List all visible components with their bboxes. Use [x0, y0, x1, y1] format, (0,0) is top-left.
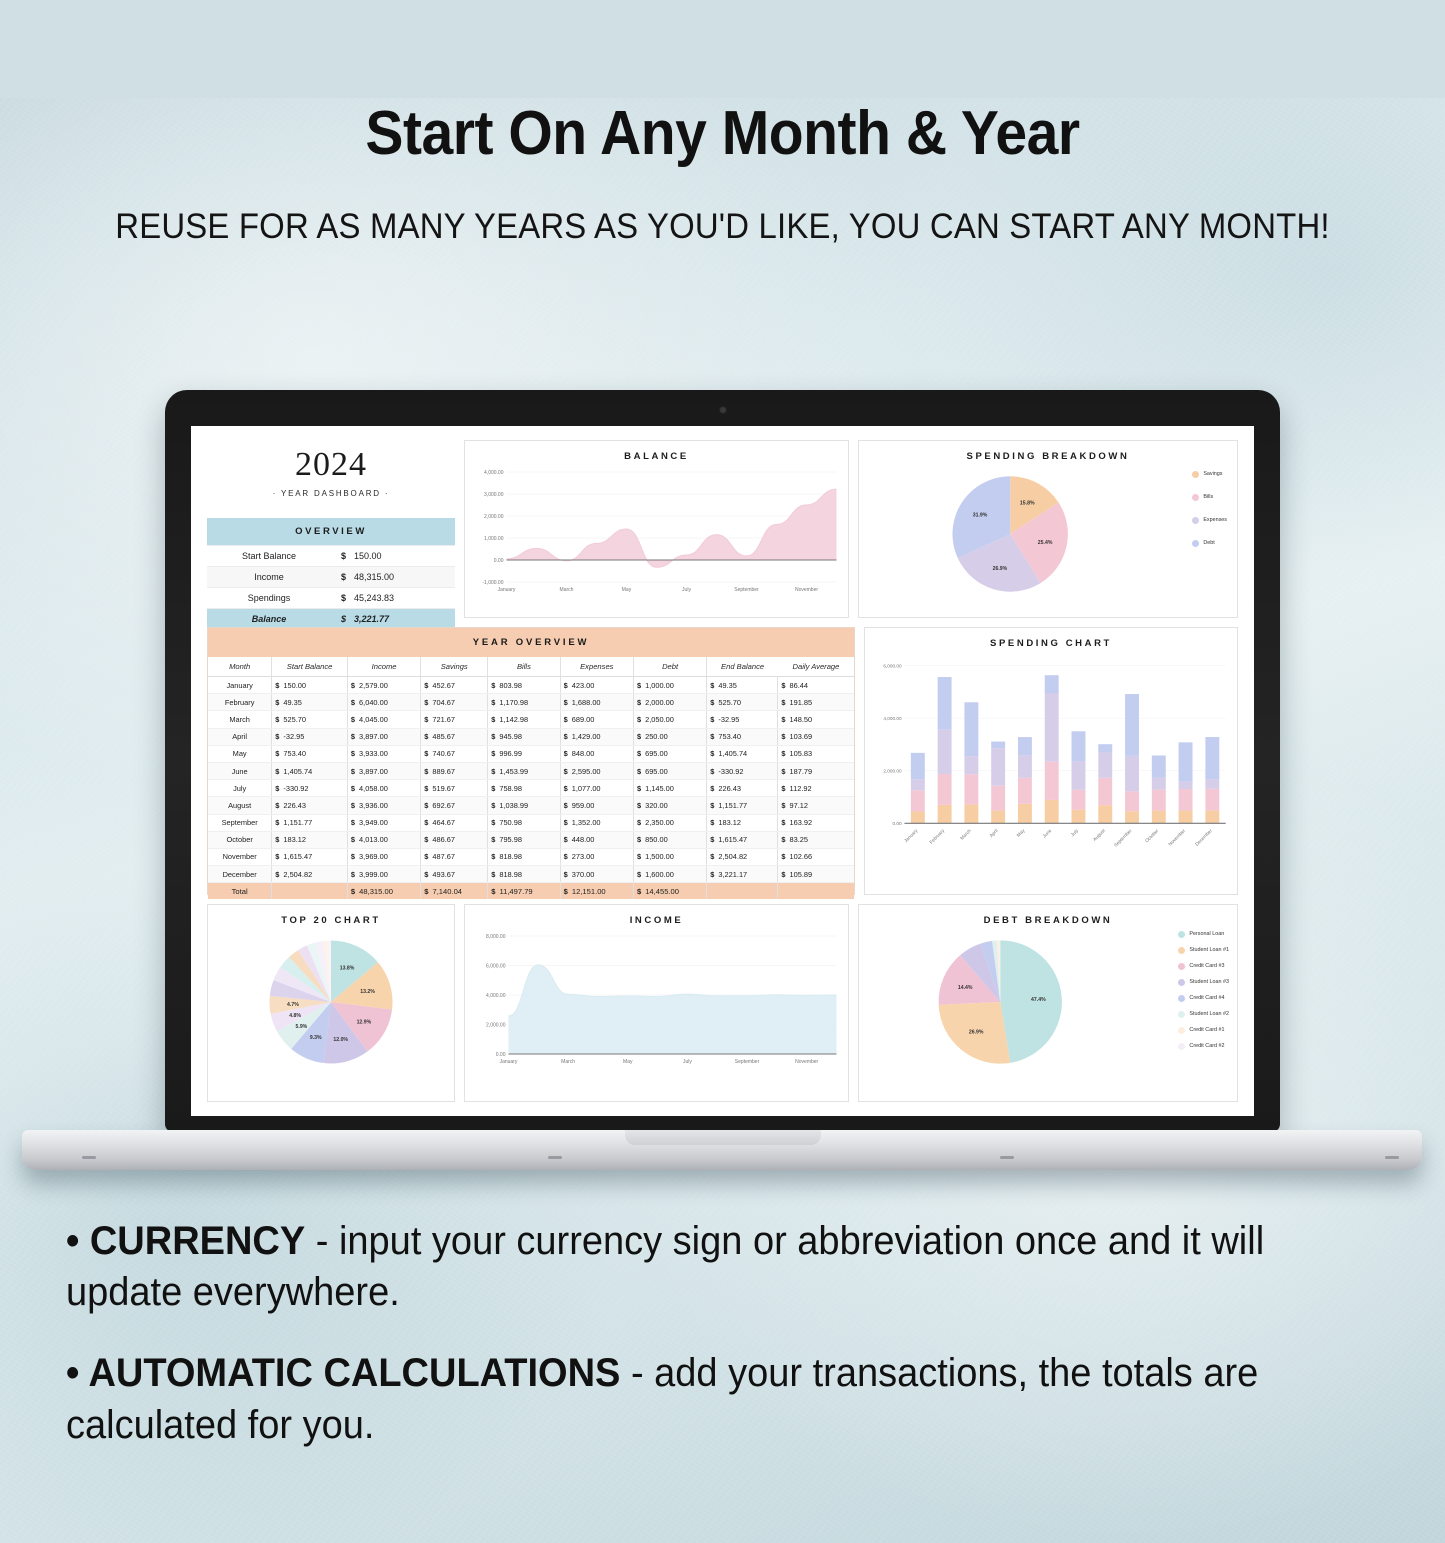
cell-amount: $83.25	[778, 831, 854, 848]
svg-text:October: October	[1144, 828, 1160, 844]
table-row: January$150.00$2,579.00$452.67$803.98$42…	[208, 677, 854, 694]
spending-chart: 6,000.004,000.002,000.000.00JanuaryFebru…	[865, 649, 1237, 885]
bullet-label: • CURRENCY	[66, 1219, 305, 1263]
cell-amount: $753.40	[272, 745, 348, 762]
cell-amount: $2,000.00	[633, 694, 706, 711]
column-header: Savings	[421, 657, 488, 677]
cell-amount: $370.00	[560, 866, 633, 883]
cell-total	[707, 883, 778, 900]
overview-label: Income	[207, 567, 331, 588]
svg-text:4.8%: 4.8%	[289, 1013, 301, 1019]
cell-amount: $464.67	[421, 814, 488, 831]
top20-chart-title: TOP 20 CHART	[208, 905, 454, 926]
column-header: Expenses	[560, 657, 633, 677]
svg-text:9.3%: 9.3%	[310, 1035, 322, 1041]
table-row: June$1,405.74$3,897.00$889.67$1,453.99$2…	[208, 762, 854, 779]
balance-chart-title: BALANCE	[465, 441, 848, 462]
legend-color-swatch	[1178, 947, 1185, 954]
laptop-vent	[1385, 1156, 1399, 1159]
cell-amount: $818.98	[488, 848, 560, 865]
debt-breakdown-legend: Personal LoanStudent Loan #1Credit Card …	[1178, 931, 1229, 1059]
debt-breakdown-title: DEBT BREAKDOWN	[859, 905, 1237, 926]
cell-amount: $740.67	[421, 745, 488, 762]
overview-label: Balance	[207, 609, 331, 630]
cell-amount: $996.99	[488, 745, 560, 762]
cell-amount: $3,897.00	[347, 728, 420, 745]
svg-text:January: January	[500, 1059, 518, 1065]
svg-text:26.9%: 26.9%	[969, 1030, 984, 1036]
svg-text:March: March	[561, 1059, 575, 1065]
table-row: Spendings $45,243.83	[207, 588, 455, 609]
cell-total	[272, 883, 348, 900]
cell-month: September	[208, 814, 272, 831]
cell-amount: $959.00	[560, 797, 633, 814]
cell-amount: $3,949.00	[347, 814, 420, 831]
svg-text:March: March	[959, 828, 972, 841]
cell-amount: $226.43	[707, 780, 778, 797]
svg-text:April: April	[989, 828, 999, 838]
bullet-label: • AUTOMATIC CALCULATIONS	[66, 1351, 620, 1395]
currency-symbol: $	[341, 551, 346, 561]
cell-amount: $721.67	[421, 711, 488, 728]
column-header: Income	[347, 657, 420, 677]
svg-text:May: May	[622, 587, 632, 593]
cell-amount: $49.35	[707, 677, 778, 694]
svg-text:February: February	[929, 828, 946, 845]
legend-color-swatch	[1178, 979, 1185, 986]
legend-label: Expenses	[1203, 518, 1227, 523]
cell-amount: $452.67	[421, 677, 488, 694]
svg-text:0.00: 0.00	[496, 1052, 506, 1058]
cell-amount: $86.44	[778, 677, 854, 694]
spending-chart-panel: SPENDING CHART 6,000.004,000.002,000.000…	[864, 627, 1238, 895]
table-row: October$183.12$4,013.00$486.67$795.98$44…	[208, 831, 854, 848]
cell-amount: $183.12	[272, 831, 348, 848]
svg-text:November: November	[795, 1059, 818, 1065]
cell-amount: $226.43	[272, 797, 348, 814]
svg-text:July: July	[683, 1059, 692, 1065]
legend-item: Savings	[1192, 471, 1227, 478]
bullet-automatic-calculations: • AUTOMATIC CALCULATIONS - add your tran…	[66, 1348, 1330, 1450]
legend-item: Personal Loan	[1178, 931, 1229, 938]
cell-amount: $803.98	[488, 677, 560, 694]
cell-amount: $1,453.99	[488, 762, 560, 779]
table-row-balance: Balance $3,221.77	[207, 609, 455, 630]
legend-label: Student Loan #1	[1189, 948, 1229, 953]
table-row: July$-330.92$4,058.00$519.67$758.98$1,07…	[208, 780, 854, 797]
table-row: May$753.40$3,933.00$740.67$996.99$848.00…	[208, 745, 854, 762]
page-title: Start On Any Month & Year	[58, 98, 1387, 169]
cell-amount: $695.00	[633, 762, 706, 779]
cell-month: February	[208, 694, 272, 711]
cell-amount: $102.66	[778, 848, 854, 865]
cell-amount: $1,145.00	[633, 780, 706, 797]
legend-item: Credit Card #1	[1178, 1027, 1229, 1034]
cell-amount: $848.00	[560, 745, 633, 762]
cell-amount: $1,600.00	[633, 866, 706, 883]
cell-amount: $3,897.00	[347, 762, 420, 779]
svg-text:13.2%: 13.2%	[360, 989, 375, 995]
currency-symbol: $	[341, 593, 346, 603]
cell-amount: $818.98	[488, 866, 560, 883]
cell-amount: $750.98	[488, 814, 560, 831]
svg-text:September: September	[1113, 828, 1133, 848]
table-row: November$1,615.47$3,969.00$487.67$818.98…	[208, 848, 854, 865]
overview-panel: 2024 · YEAR DASHBOARD · OVERVIEW Start B…	[207, 440, 455, 618]
svg-text:September: September	[735, 1059, 760, 1065]
laptop-vent	[82, 1156, 96, 1159]
svg-text:December: December	[1194, 828, 1213, 847]
legend-item: Credit Card #4	[1178, 995, 1229, 1002]
svg-text:June: June	[1042, 828, 1053, 839]
cell-amount: $695.00	[633, 745, 706, 762]
svg-text:14.4%: 14.4%	[958, 985, 973, 991]
cell-amount: $692.67	[421, 797, 488, 814]
cell-amount: $105.89	[778, 866, 854, 883]
cell-amount: $1,142.98	[488, 711, 560, 728]
legend-color-swatch	[1178, 1043, 1185, 1050]
legend-label: Credit Card #3	[1189, 964, 1224, 969]
svg-text:12.0%: 12.0%	[333, 1037, 348, 1043]
legend-item: Student Loan #2	[1178, 1011, 1229, 1018]
cell-amount: $1,500.00	[633, 848, 706, 865]
cell-amount: $1,688.00	[560, 694, 633, 711]
svg-text:15.8%: 15.8%	[1020, 501, 1035, 507]
cell-amount: $758.98	[488, 780, 560, 797]
svg-text:12.9%: 12.9%	[357, 1019, 372, 1025]
cell-month: June	[208, 762, 272, 779]
column-header: Bills	[488, 657, 560, 677]
legend-color-swatch	[1192, 494, 1199, 501]
webcam-icon	[719, 406, 727, 414]
cell-amount: $945.98	[488, 728, 560, 745]
cell-amount: $49.35	[272, 694, 348, 711]
table-row-total: Total$48,315.00$7,140.04$11,497.79$12,15…	[208, 883, 854, 900]
cell-month: January	[208, 677, 272, 694]
year-number: 2024	[207, 446, 455, 484]
cell-amount: $2,504.82	[707, 848, 778, 865]
top20-chart: 13.8%13.2%12.9%12.0%9.3%5.9%4.8%4.7%	[208, 926, 454, 1076]
cell-amount: $4,045.00	[347, 711, 420, 728]
laptop-vent	[548, 1156, 562, 1159]
cell-amount: $1,615.47	[272, 848, 348, 865]
cell-amount: $493.67	[421, 866, 488, 883]
legend-color-swatch	[1178, 1027, 1185, 1034]
cell-amount: $689.00	[560, 711, 633, 728]
legend-item: Credit Card #3	[1178, 963, 1229, 970]
cell-amount: $3,936.00	[347, 797, 420, 814]
svg-text:47.4%: 47.4%	[1031, 997, 1046, 1003]
currency-symbol: $	[341, 614, 346, 624]
legend-label: Student Loan #2	[1189, 1012, 1229, 1017]
svg-text:November: November	[1167, 828, 1186, 847]
year-subtitle: · YEAR DASHBOARD ·	[207, 489, 455, 498]
cell-amount: $1,151.77	[272, 814, 348, 831]
legend-item: Student Loan #1	[1178, 947, 1229, 954]
legend-label: Credit Card #1	[1189, 1028, 1224, 1033]
table-row: September$1,151.77$3,949.00$464.67$750.9…	[208, 814, 854, 831]
legend-color-swatch	[1178, 995, 1185, 1002]
balance-chart: 4,000.003,000.002,000.001,000.000.00-1,0…	[465, 462, 848, 602]
cell-amount: $1,077.00	[560, 780, 633, 797]
svg-text:4,000.00: 4,000.00	[484, 470, 504, 476]
cell-amount: $3,221.17	[707, 866, 778, 883]
column-header: Daily Average	[778, 657, 854, 677]
cell-amount: $704.67	[421, 694, 488, 711]
laptop-screen: 2024 · YEAR DASHBOARD · OVERVIEW Start B…	[191, 426, 1254, 1116]
cell-amount: $148.50	[778, 711, 854, 728]
cell-amount: $103.69	[778, 728, 854, 745]
svg-text:January: January	[903, 828, 919, 844]
cell-amount: $183.12	[707, 814, 778, 831]
legend-color-swatch	[1178, 963, 1185, 970]
laptop-vent	[1000, 1156, 1014, 1159]
svg-text:6,000.00: 6,000.00	[883, 663, 902, 668]
legend-item: Bills	[1192, 494, 1227, 501]
cell-total: $7,140.04	[421, 883, 488, 900]
svg-text:1,000.00: 1,000.00	[484, 536, 504, 542]
legend-label: Credit Card #4	[1189, 996, 1224, 1001]
legend-color-swatch	[1192, 540, 1199, 547]
table-row: December$2,504.82$3,999.00$493.67$818.98…	[208, 866, 854, 883]
cell-amount: $1,429.00	[560, 728, 633, 745]
legend-color-swatch	[1192, 517, 1199, 524]
total-label: Total	[208, 883, 272, 900]
legend-item: Student Loan #3	[1178, 979, 1229, 986]
overview-title: OVERVIEW	[207, 518, 455, 546]
cell-total	[778, 883, 854, 900]
cell-amount: $889.67	[421, 762, 488, 779]
cell-amount: $423.00	[560, 677, 633, 694]
cell-total: $14,455.00	[633, 883, 706, 900]
cell-amount: $-330.92	[272, 780, 348, 797]
svg-text:5.9%: 5.9%	[296, 1024, 308, 1030]
cell-total: $48,315.00	[347, 883, 420, 900]
bullet-currency: • CURRENCY - input your currency sign or…	[66, 1216, 1330, 1318]
cell-amount: $525.70	[272, 711, 348, 728]
svg-text:0.00: 0.00	[494, 558, 504, 564]
overview-value: $150.00	[331, 546, 455, 567]
svg-text:-1,000.00: -1,000.00	[482, 580, 503, 586]
cell-month: December	[208, 866, 272, 883]
cell-month: March	[208, 711, 272, 728]
currency-symbol: $	[341, 572, 346, 582]
table-row: April$-32.95$3,897.00$485.67$945.98$1,42…	[208, 728, 854, 745]
overview-label: Spendings	[207, 588, 331, 609]
svg-text:May: May	[1016, 828, 1026, 838]
cell-month: April	[208, 728, 272, 745]
svg-text:8,000.00: 8,000.00	[486, 934, 506, 940]
cell-amount: $-32.95	[707, 711, 778, 728]
svg-text:January: January	[498, 587, 516, 593]
cell-amount: $795.98	[488, 831, 560, 848]
svg-text:6,000.00: 6,000.00	[486, 964, 506, 970]
svg-text:2,000.00: 2,000.00	[883, 769, 902, 774]
svg-text:2,000.00: 2,000.00	[484, 514, 504, 520]
dashboard: 2024 · YEAR DASHBOARD · OVERVIEW Start B…	[191, 426, 1254, 1116]
cell-amount: $2,050.00	[633, 711, 706, 728]
overview-value: $48,315.00	[331, 567, 455, 588]
svg-text:26.9%: 26.9%	[993, 566, 1008, 572]
legend-color-swatch	[1178, 1011, 1185, 1018]
cell-amount: $1,352.00	[560, 814, 633, 831]
debt-breakdown-panel: DEBT BREAKDOWN 47.4%26.9%14.4% Personal …	[858, 904, 1238, 1102]
column-header: Month	[208, 657, 272, 677]
cell-amount: $525.70	[707, 694, 778, 711]
svg-text:0.00: 0.00	[893, 821, 903, 826]
cell-amount: $1,405.74	[272, 762, 348, 779]
column-header: End Balance	[707, 657, 778, 677]
legend-label: Debt	[1203, 541, 1214, 546]
cell-amount: $6,040.00	[347, 694, 420, 711]
cell-amount: $1,405.74	[707, 745, 778, 762]
legend-item: Debt	[1192, 540, 1227, 547]
svg-text:September: September	[734, 587, 759, 593]
svg-text:May: May	[623, 1059, 633, 1065]
overview-value: $45,243.83	[331, 588, 455, 609]
legend-label: Savings	[1203, 472, 1222, 477]
svg-text:July: July	[682, 587, 691, 593]
cell-amount: $150.00	[272, 677, 348, 694]
year-overview-title: YEAR OVERVIEW	[208, 628, 854, 657]
cell-amount: $3,969.00	[347, 848, 420, 865]
legend-label: Bills	[1203, 495, 1213, 500]
cell-month: November	[208, 848, 272, 865]
cell-amount: $2,579.00	[347, 677, 420, 694]
cell-amount: $187.79	[778, 762, 854, 779]
laptop-notch	[625, 1130, 821, 1145]
table-row: March$525.70$4,045.00$721.67$1,142.98$68…	[208, 711, 854, 728]
cell-amount: $112.92	[778, 780, 854, 797]
cell-total: $12,151.00	[560, 883, 633, 900]
cell-amount: $320.00	[633, 797, 706, 814]
laptop-lid: 2024 · YEAR DASHBOARD · OVERVIEW Start B…	[165, 390, 1280, 1132]
svg-text:4.7%: 4.7%	[287, 1002, 299, 1008]
cell-amount: $2,595.00	[560, 762, 633, 779]
cell-total: $11,497.79	[488, 883, 560, 900]
spending-breakdown-legend: SavingsBillsExpensesDebt	[1192, 471, 1227, 563]
legend-label: Student Loan #3	[1189, 980, 1229, 985]
legend-color-swatch	[1192, 471, 1199, 478]
cell-amount: $163.92	[778, 814, 854, 831]
svg-text:August: August	[1092, 828, 1106, 842]
legend-color-swatch	[1178, 931, 1185, 938]
legend-item: Credit Card #2	[1178, 1043, 1229, 1050]
table-row: February$49.35$6,040.00$704.67$1,170.98$…	[208, 694, 854, 711]
cell-amount: $1,038.99	[488, 797, 560, 814]
column-header: Start Balance	[272, 657, 348, 677]
cell-amount: $2,350.00	[633, 814, 706, 831]
svg-text:4,000.00: 4,000.00	[883, 716, 902, 721]
cell-amount: $2,504.82	[272, 866, 348, 883]
legend-item: Expenses	[1192, 517, 1227, 524]
svg-text:3,000.00: 3,000.00	[484, 492, 504, 498]
cell-amount: $1,000.00	[633, 677, 706, 694]
spending-breakdown-panel: SPENDING BREAKDOWN 15.8%25.4%26.9%31.9% …	[858, 440, 1238, 618]
svg-text:November: November	[795, 587, 818, 593]
svg-text:July: July	[1070, 828, 1080, 838]
cell-amount: $1,615.47	[707, 831, 778, 848]
cell-month: August	[208, 797, 272, 814]
svg-text:13.8%: 13.8%	[340, 965, 355, 971]
top20-chart-panel: TOP 20 CHART 13.8%13.2%12.9%12.0%9.3%5.9…	[207, 904, 455, 1102]
legend-label: Personal Loan	[1189, 932, 1224, 937]
year-overview-panel: YEAR OVERVIEW MonthStart BalanceIncomeSa…	[207, 627, 855, 895]
spending-breakdown-title: SPENDING BREAKDOWN	[859, 441, 1237, 462]
overview-label: Start Balance	[207, 546, 331, 567]
legend-label: Credit Card #2	[1189, 1044, 1224, 1049]
cell-amount: $448.00	[560, 831, 633, 848]
spending-breakdown-chart: 15.8%25.4%26.9%31.9%	[859, 462, 1237, 605]
cell-month: May	[208, 745, 272, 762]
cell-amount: $-32.95	[272, 728, 348, 745]
cell-amount: $3,933.00	[347, 745, 420, 762]
year-overview-table: MonthStart BalanceIncomeSavingsBillsExpe…	[208, 657, 854, 899]
cell-amount: $485.67	[421, 728, 488, 745]
spending-chart-title: SPENDING CHART	[865, 628, 1237, 649]
income-chart-title: INCOME	[465, 905, 848, 926]
overview-table: OVERVIEW Start Balance $150.00 Income $4…	[207, 518, 455, 629]
table-row: Start Balance $150.00	[207, 546, 455, 567]
cell-amount: $273.00	[560, 848, 633, 865]
cell-month: October	[208, 831, 272, 848]
cell-amount: $753.40	[707, 728, 778, 745]
cell-amount: $97.12	[778, 797, 854, 814]
svg-text:March: March	[560, 587, 574, 593]
table-row: Income $48,315.00	[207, 567, 455, 588]
overview-value: $3,221.77	[331, 609, 455, 630]
svg-text:4,000.00: 4,000.00	[486, 993, 506, 999]
cell-amount: $191.85	[778, 694, 854, 711]
income-chart: 8,000.006,000.004,000.002,000.000.00Janu…	[465, 926, 848, 1076]
table-row: August$226.43$3,936.00$692.67$1,038.99$9…	[208, 797, 854, 814]
svg-text:25.4%: 25.4%	[1038, 540, 1053, 546]
income-chart-panel: INCOME 8,000.006,000.004,000.002,000.000…	[464, 904, 849, 1102]
cell-amount: $487.67	[421, 848, 488, 865]
cell-amount: $4,013.00	[347, 831, 420, 848]
cell-amount: $105.83	[778, 745, 854, 762]
balance-chart-panel: BALANCE 4,000.003,000.002,000.001,000.00…	[464, 440, 849, 618]
cell-amount: $519.67	[421, 780, 488, 797]
svg-text:31.9%: 31.9%	[973, 513, 988, 519]
svg-text:2,000.00: 2,000.00	[486, 1023, 506, 1029]
cell-amount: $850.00	[633, 831, 706, 848]
cell-amount: $1,151.77	[707, 797, 778, 814]
feature-bullets: • CURRENCY - input your currency sign or…	[66, 1216, 1396, 1481]
cell-amount: $3,999.00	[347, 866, 420, 883]
column-header: Debt	[633, 657, 706, 677]
cell-amount: $1,170.98	[488, 694, 560, 711]
page-subtitle: REUSE FOR AS MANY YEARS AS YOU'D LIKE, Y…	[43, 207, 1401, 247]
table-header-row: MonthStart BalanceIncomeSavingsBillsExpe…	[208, 657, 854, 677]
cell-amount: $486.67	[421, 831, 488, 848]
cell-amount: $4,058.00	[347, 780, 420, 797]
cell-amount: $250.00	[633, 728, 706, 745]
cell-month: July	[208, 780, 272, 797]
cell-amount: $-330.92	[707, 762, 778, 779]
